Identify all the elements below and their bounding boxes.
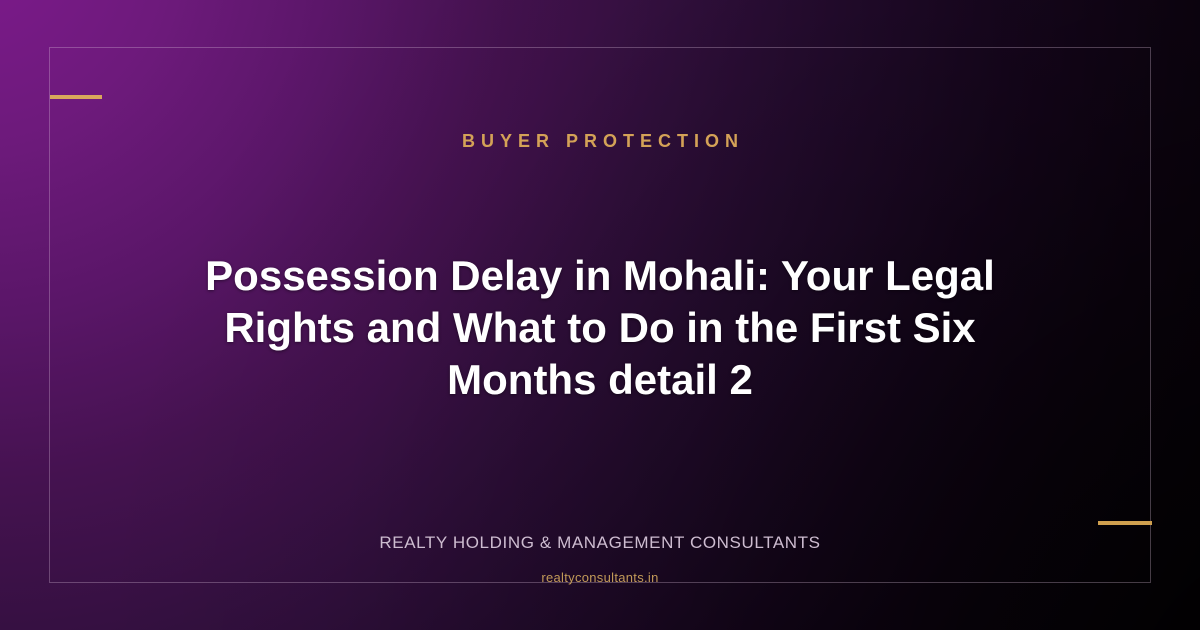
brand-name-label: REALTY HOLDING & MANAGEMENT CONSULTANTS xyxy=(0,533,1200,553)
category-eyebrow-label: BUYER PROTECTION xyxy=(0,131,1200,152)
decorative-frame-border xyxy=(49,47,1151,583)
card-content: BUYER PROTECTION Possession Delay in Moh… xyxy=(0,0,1200,630)
social-share-card: BUYER PROTECTION Possession Delay in Moh… xyxy=(0,0,1200,630)
gold-accent-bar-bottom-right xyxy=(1098,521,1152,525)
page-title: Possession Delay in Mohali: Your Legal R… xyxy=(150,250,1050,406)
background-vignette xyxy=(0,0,1200,630)
website-url-label: realtyconsultants.in xyxy=(0,570,1200,585)
gold-accent-bar-top-left xyxy=(50,95,102,99)
